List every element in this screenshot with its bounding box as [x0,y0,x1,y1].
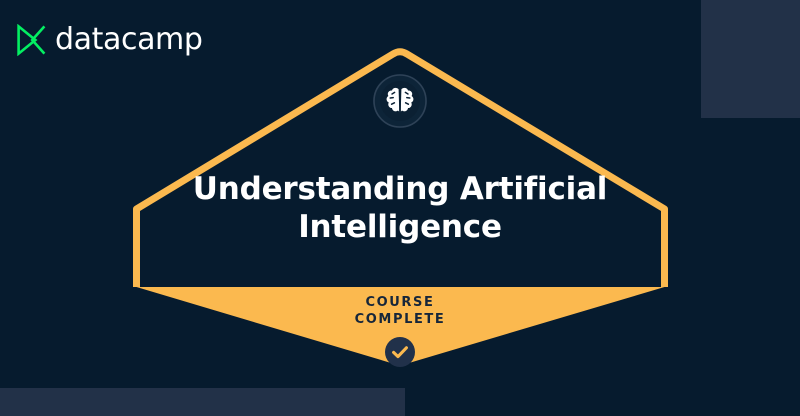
status-badge: COURSE COMPLETE [290,294,510,367]
brand-wordmark: datacamp [55,25,203,55]
check-circle-icon [385,337,415,367]
datacamp-logo-icon [16,24,46,56]
course-title-line-1: Understanding Artificial [193,171,607,207]
status-line-1: COURSE [290,294,510,311]
status-line-2: COMPLETE [290,311,510,328]
decorative-block-bottom-left [0,388,405,416]
certificate-canvas: datacamp Understanding Artificial Intell… [0,0,800,416]
page-title: Understanding Artificial Intelligence [160,170,640,246]
brain-icon [372,73,428,129]
brand-logo[interactable]: datacamp [16,21,203,59]
course-title-line-2: Intelligence [298,209,502,245]
decorative-block-top-right [701,0,800,118]
